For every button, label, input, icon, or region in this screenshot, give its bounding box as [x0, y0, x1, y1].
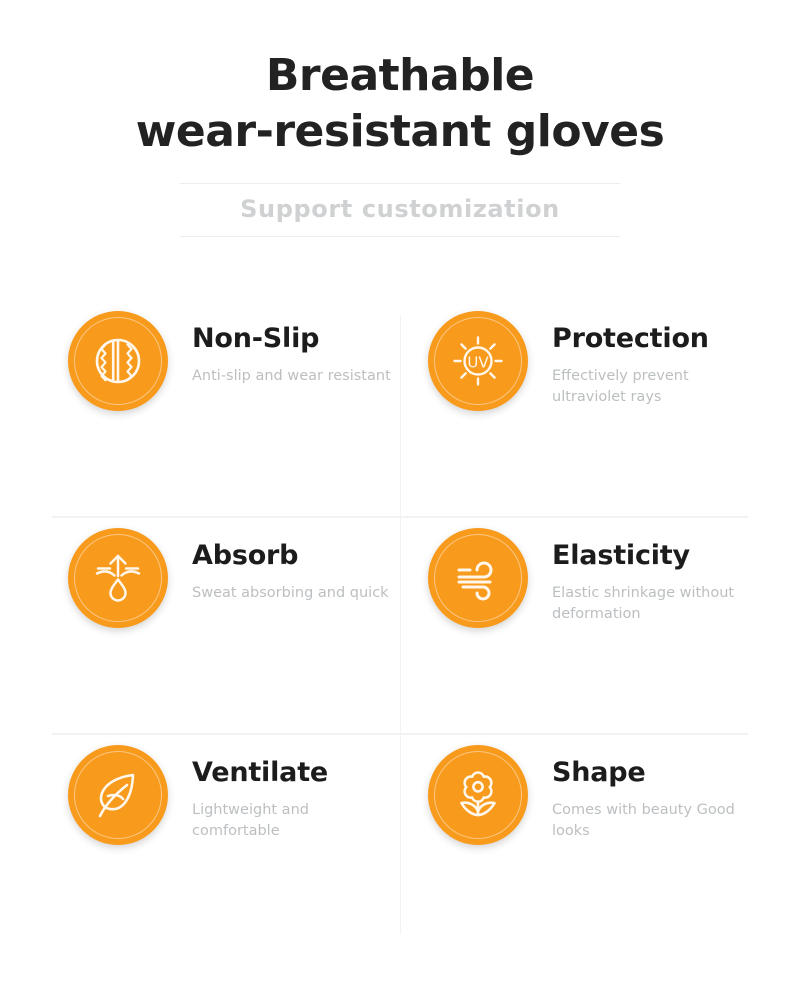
feature-description: Effectively prevent ultraviolet rays	[552, 366, 748, 408]
wind-elasticity-icon	[428, 528, 528, 628]
leaf-ventilate-icon	[68, 745, 168, 845]
feature-title: Elasticity	[552, 540, 748, 571]
feature-grid: Non-Slip Anti-slip and wear resistant	[52, 301, 748, 952]
feature-row: Non-Slip Anti-slip and wear resistant	[52, 301, 748, 518]
feature-card-non-slip[interactable]: Non-Slip Anti-slip and wear resistant	[52, 301, 400, 518]
uv-sun-icon: UV	[428, 311, 528, 411]
feature-title: Ventilate	[192, 757, 400, 788]
flower-shape-icon	[428, 745, 528, 845]
sweat-absorb-droplet-icon	[68, 528, 168, 628]
subtitle-banner: Support customization	[180, 183, 620, 238]
feature-title: Protection	[552, 323, 748, 354]
non-slip-tread-icon	[68, 311, 168, 411]
feature-row: Ventilate Lightweight and comfortable	[52, 735, 748, 952]
feature-row: Absorb Sweat absorbing and quick Elastic…	[52, 518, 748, 735]
feature-text-block: Shape Comes with beauty Good looks	[528, 745, 748, 842]
page-header: Breathable wear-resistant gloves Support…	[0, 0, 800, 237]
feature-card-absorb[interactable]: Absorb Sweat absorbing and quick	[52, 518, 400, 735]
feature-text-block: Absorb Sweat absorbing and quick	[168, 528, 389, 604]
feature-title: Absorb	[192, 540, 389, 571]
feature-card-shape[interactable]: Shape Comes with beauty Good looks	[400, 735, 748, 952]
feature-title: Non-Slip	[192, 323, 391, 354]
feature-text-block: Protection Effectively prevent ultraviol…	[528, 311, 748, 408]
feature-text-block: Elasticity Elastic shrinkage without def…	[528, 528, 748, 625]
page-title: Breathable wear-resistant gloves	[40, 48, 760, 161]
feature-text-block: Non-Slip Anti-slip and wear resistant	[168, 311, 391, 387]
feature-card-elasticity[interactable]: Elasticity Elastic shrinkage without def…	[400, 518, 748, 735]
feature-card-protection[interactable]: UV Protection Effectively prevent ultrav…	[400, 301, 748, 518]
feature-description: Lightweight and comfortable	[192, 800, 400, 842]
feature-description: Sweat absorbing and quick	[192, 583, 389, 604]
feature-description: Elastic shrinkage without deformation	[552, 583, 748, 625]
feature-text-block: Ventilate Lightweight and comfortable	[168, 745, 400, 842]
feature-card-ventilate[interactable]: Ventilate Lightweight and comfortable	[52, 735, 400, 952]
svg-text:UV: UV	[467, 354, 489, 372]
feature-description: Comes with beauty Good looks	[552, 800, 748, 842]
page-subtitle: Support customization	[180, 195, 620, 224]
page-title-line-2: wear-resistant gloves	[40, 104, 760, 160]
feature-title: Shape	[552, 757, 748, 788]
page-title-line-1: Breathable	[40, 48, 760, 104]
feature-description: Anti-slip and wear resistant	[192, 366, 391, 387]
